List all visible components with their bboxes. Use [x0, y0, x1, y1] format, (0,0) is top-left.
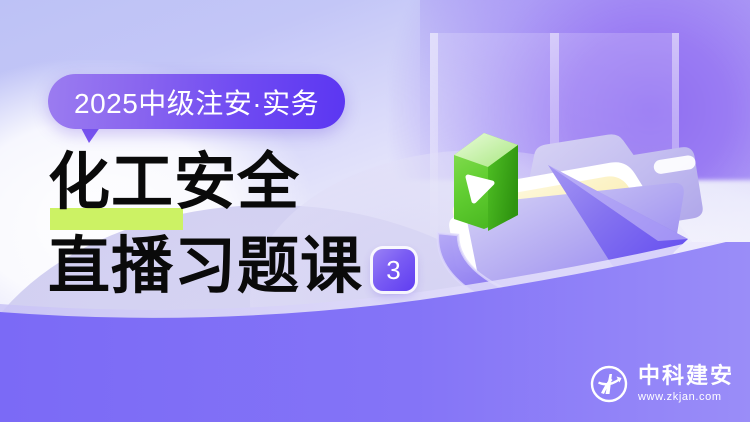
title-line-1: 化工安全 — [48, 152, 468, 215]
badge-label: 2025中级注安·实务 — [74, 82, 319, 122]
course-category-badge[interactable]: 2025中级注安·实务 — [48, 74, 345, 129]
title-line-2: 直播习题课 3 — [48, 236, 468, 299]
episode-number-badge: 3 — [373, 249, 415, 291]
course-banner: 2025中级注安·实务 化工安全 直播习题课 3 中科建安 www.zkjan.… — [0, 0, 750, 422]
zkjan-circle-a-icon — [589, 364, 629, 404]
title-line-1-text: 化工安全 — [48, 149, 300, 217]
logo-company-name: 中科建安 — [638, 365, 734, 387]
logo-text-group: 中科建安 www.zkjan.com — [638, 365, 734, 403]
brand-logo[interactable]: 中科建安 www.zkjan.com — [589, 364, 734, 404]
title-line-2-text: 直播习题课 — [48, 236, 363, 299]
logo-website-url: www.zkjan.com — [638, 392, 734, 403]
title-block: 化工安全 直播习题课 3 — [48, 152, 468, 299]
